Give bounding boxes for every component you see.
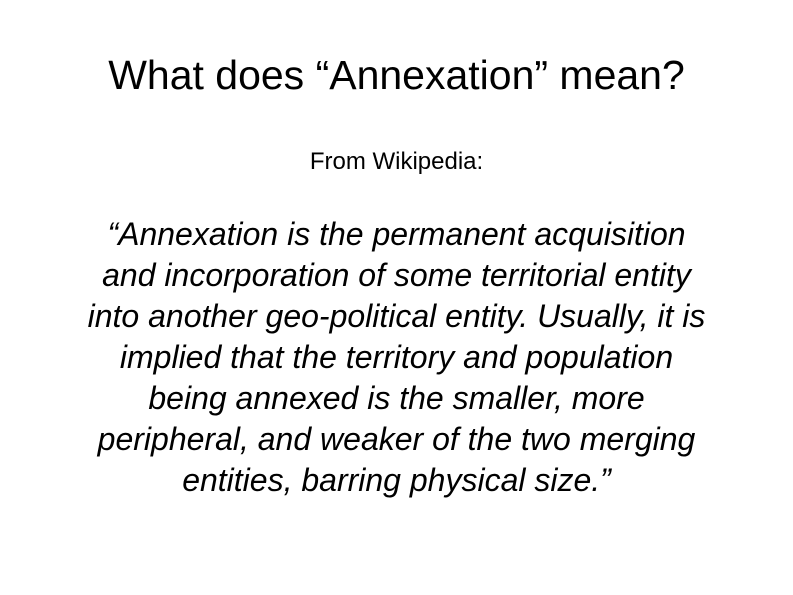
quote-line: implied that the territory and populatio… <box>16 337 777 378</box>
quote-line: and incorporation of some territorial en… <box>16 255 777 296</box>
quote-line: “Annexation is the permanent acquisition <box>16 214 777 255</box>
quote-line: being annexed is the smaller, more <box>16 378 777 419</box>
presentation-slide: What does “Annexation” mean? From Wikipe… <box>0 0 793 595</box>
quote-line: peripheral, and weaker of the two mergin… <box>16 419 777 460</box>
quote-line: into another geo-political entity. Usual… <box>16 296 777 337</box>
source-attribution: From Wikipedia: <box>0 148 793 176</box>
quote-body: “Annexation is the permanent acquisition… <box>16 214 777 501</box>
page-title: What does “Annexation” mean? <box>0 51 793 99</box>
quote-line: entities, barring physical size.” <box>16 460 777 501</box>
